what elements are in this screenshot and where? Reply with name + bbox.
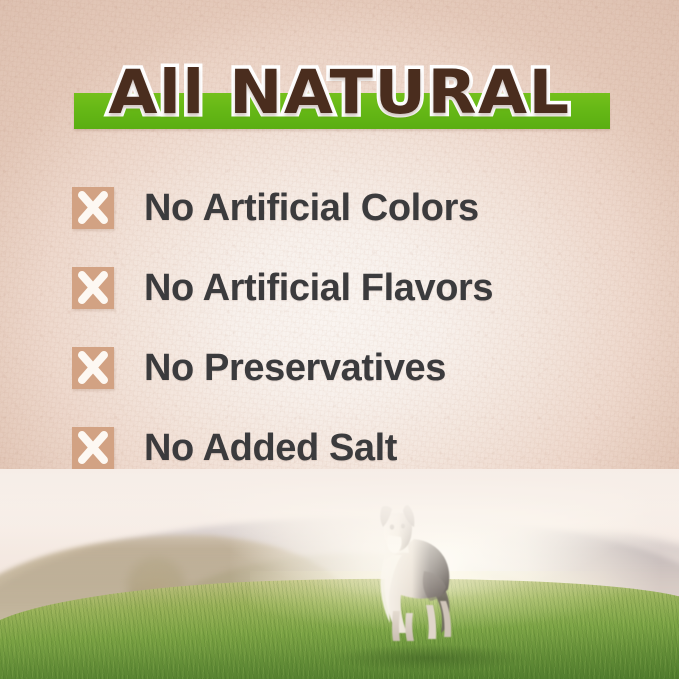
x-mark-icon xyxy=(72,187,114,229)
page-title: All NATURAL xyxy=(0,55,679,131)
landscape-photo xyxy=(0,469,679,679)
list-item: No Artificial Flavors xyxy=(0,248,679,328)
claims-list: No Artificial Colors No Artificial Flavo… xyxy=(0,168,679,488)
list-item: No Artificial Colors xyxy=(0,168,679,248)
header-banner: All NATURAL xyxy=(0,55,679,135)
all-natural-product-poster: All NATURAL No Artificial Colors No Arti… xyxy=(0,0,679,679)
x-mark-icon xyxy=(72,267,114,309)
list-item-label: No Artificial Flavors xyxy=(144,267,493,309)
x-mark-icon xyxy=(72,427,114,469)
list-item-label: No Added Salt xyxy=(144,427,397,469)
photo-grass-highlight xyxy=(250,571,679,651)
dog-photo xyxy=(352,501,464,651)
list-item-label: No Artificial Colors xyxy=(144,187,479,229)
list-item-label: No Preservatives xyxy=(144,347,446,389)
x-mark-icon xyxy=(72,347,114,389)
list-item: No Preservatives xyxy=(0,328,679,408)
